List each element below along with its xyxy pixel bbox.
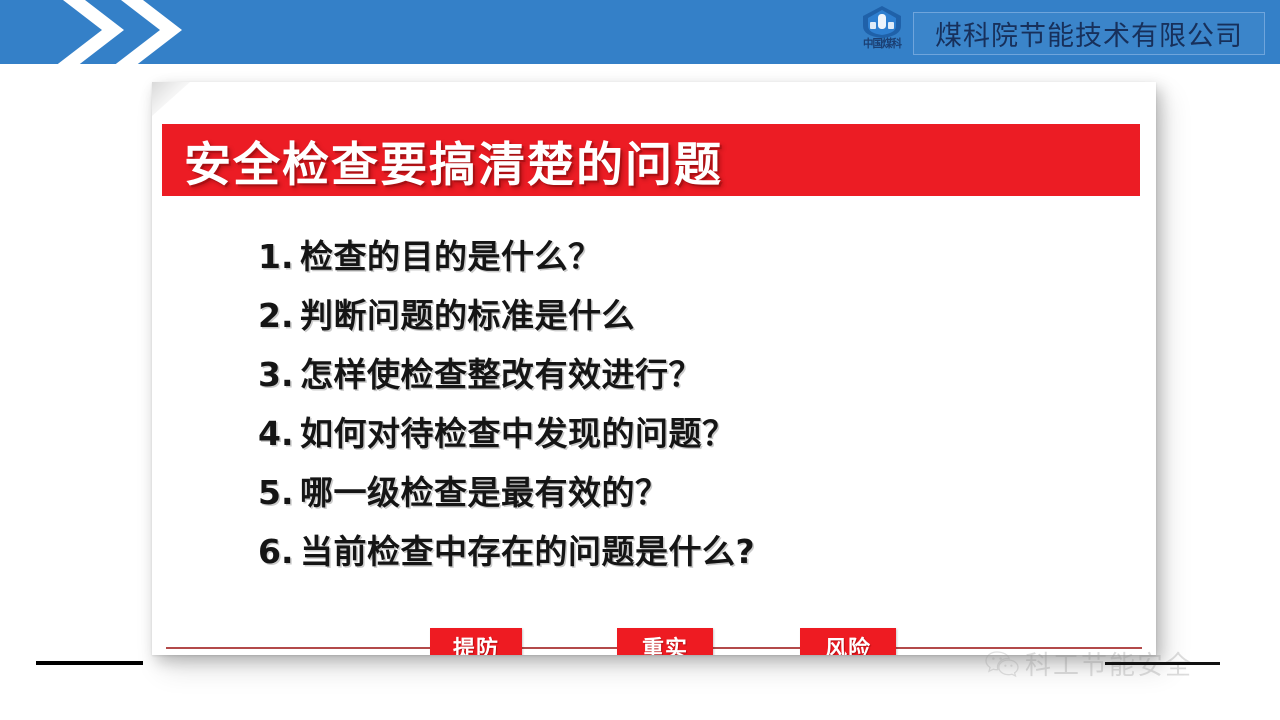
logo-caption: 中国煤科: [863, 38, 901, 50]
tag-label: 风险: [825, 631, 871, 655]
list-item-number: 5.: [258, 473, 300, 512]
list-item: 6. 当前检查中存在的问题是什么?: [258, 525, 1118, 584]
question-list: 1. 检查的目的是什么？ 2. 判断问题的标准是什么 3. 怎样使检查整改有效进…: [258, 230, 1118, 584]
company-name-label: 煤科院节能技术有限公司: [935, 14, 1243, 53]
china-coal-technology-logo: 中国煤科: [846, 4, 918, 62]
wechat-icon: [985, 649, 1019, 679]
logo-mark-icon: [857, 4, 907, 40]
status-badge-zhongshi: 重实: [617, 628, 713, 655]
page-title: 安全检查要搞清楚的问题: [184, 126, 723, 195]
list-item-number: 2.: [258, 296, 300, 335]
list-item-label: 判断问题的标准是什么: [300, 289, 635, 337]
slide-canvas: 中国煤科 煤科院节能技术有限公司 安全检查要搞清楚的问题 1. 检查的目的是什么…: [0, 0, 1280, 720]
list-item-label: 检查的目的是什么？: [300, 230, 602, 278]
watermark-strike-rule: [1105, 662, 1220, 665]
header-band: 中国煤科 煤科院节能技术有限公司: [0, 0, 1280, 64]
title-banner: 安全检查要搞清楚的问题: [162, 124, 1140, 196]
list-item: 3. 怎样使检查整改有效进行？: [258, 348, 1118, 407]
list-item: 5. 哪一级检查是最有效的？: [258, 466, 1118, 525]
company-name-box: 煤科院节能技术有限公司: [913, 12, 1265, 55]
status-badge-tifang: 提防: [430, 628, 522, 655]
list-item: 1. 检查的目的是什么？: [258, 230, 1118, 289]
list-item-number: 1.: [258, 237, 300, 276]
content-card-inner: 安全检查要搞清楚的问题 1. 检查的目的是什么？ 2. 判断问题的标准是什么 3…: [152, 82, 1156, 655]
list-item-number: 3.: [258, 355, 300, 394]
list-item-label: 怎样使检查整改有效进行？: [300, 348, 702, 396]
list-item-number: 4.: [258, 414, 300, 453]
content-card: 安全检查要搞清楚的问题 1. 检查的目的是什么？ 2. 判断问题的标准是什么 3…: [152, 82, 1156, 655]
double-chevron-right-icon: [44, 0, 224, 64]
footer-black-rule: [36, 661, 143, 665]
tag-label: 提防: [453, 631, 499, 655]
list-item-label: 哪一级检查是最有效的？: [300, 466, 669, 514]
list-item-label: 如何对待检查中发现的问题？: [300, 407, 736, 455]
status-badge-fengxian: 风险: [800, 628, 896, 655]
list-item-number: 6.: [258, 532, 300, 571]
list-item-label: 当前检查中存在的问题是什么?: [300, 525, 755, 573]
list-item: 4. 如何对待检查中发现的问题？: [258, 407, 1118, 466]
tag-label: 重实: [642, 631, 688, 655]
list-item: 2. 判断问题的标准是什么: [258, 289, 1118, 348]
